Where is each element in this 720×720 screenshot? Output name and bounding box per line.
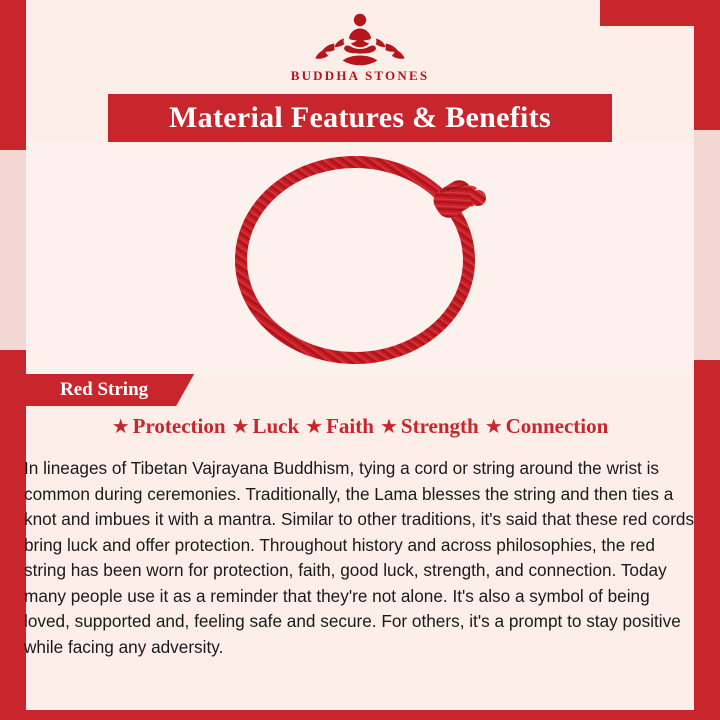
- infographic-page: BUDDHA STONES Material Features & Benefi…: [0, 0, 720, 720]
- product-label-tab: Red String: [26, 374, 194, 406]
- product-label: Red String: [60, 379, 148, 401]
- benefit-item: ★ Luck: [232, 414, 300, 439]
- benefit-item: ★ Faith: [305, 414, 374, 439]
- star-icon: ★: [485, 417, 503, 437]
- description-text: In lineages of Tibetan Vajrayana Buddhis…: [24, 456, 700, 660]
- star-icon: ★: [232, 417, 250, 437]
- brand-name: BUDDHA STONES: [0, 68, 720, 84]
- benefit-item: ★ Connection: [485, 414, 609, 439]
- benefit-label: Strength: [401, 414, 479, 439]
- red-braided-string-bracelet-icon: [210, 148, 510, 368]
- decor-bottom-bar: [0, 710, 720, 720]
- benefit-label: Connection: [506, 414, 609, 439]
- brand-logo: BUDDHA STONES: [0, 8, 720, 84]
- star-icon: ★: [380, 417, 398, 437]
- benefit-label: Faith: [326, 414, 374, 439]
- decor-edge-left-middle: [0, 150, 26, 350]
- benefit-item: ★ Protection: [112, 414, 226, 439]
- benefits-list: ★ Protection ★ Luck ★ Faith ★ Strength ★…: [26, 414, 694, 439]
- lotus-meditation-icon: [314, 8, 406, 66]
- page-title: Material Features & Benefits: [169, 101, 551, 135]
- benefit-label: Luck: [252, 414, 299, 439]
- page-title-banner: Material Features & Benefits: [108, 94, 612, 142]
- star-icon: ★: [112, 417, 130, 437]
- decor-edge-left-bottom: [0, 350, 26, 720]
- product-image-area: [26, 142, 694, 374]
- star-icon: ★: [305, 417, 323, 437]
- benefit-label: Protection: [133, 414, 226, 439]
- benefit-item: ★ Strength: [380, 414, 479, 439]
- decor-edge-right-middle: [694, 130, 720, 360]
